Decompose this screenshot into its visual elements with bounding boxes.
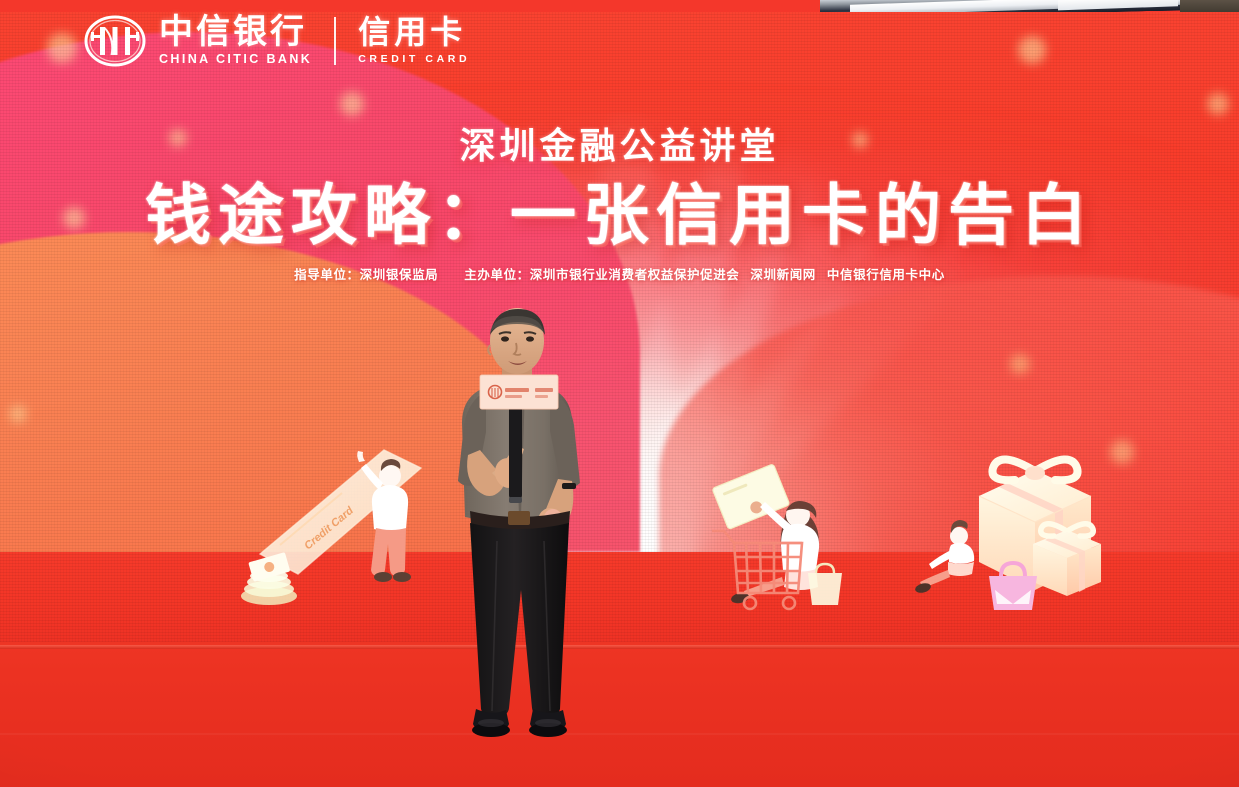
event-stage-scene: 中信银行 CHINA CITIC BANK 信用卡 CREDIT CARD 深圳… [0,0,1239,787]
product-name-en: CREDIT CARD [358,52,470,67]
event-title: 钱途攻略：一张信用卡的告白 [0,176,1239,254]
host-label: 主办单位： [464,268,530,282]
citic-credit-card-logo: 中信银行 CHINA CITIC BANK 信用卡 CREDIT CARD [84,14,470,68]
shopping-cart [712,531,802,609]
gift-boxes-illustration [915,440,1155,615]
trousers [470,523,569,717]
bank-name-block: 中信银行 CHINA CITIC BANK [159,15,312,68]
head [488,308,545,374]
wristwatch [562,483,576,489]
bank-name-cn: 中信银行 [159,15,307,49]
guidance-label: 指导单位： [294,268,360,282]
right-eye [526,336,534,341]
bokeh-dot [1010,354,1030,374]
citic-bank-logo-mark [84,14,146,68]
headline-block: 深圳金融公益讲堂 钱途攻略：一张信用卡的告白 指导单位：深圳银保监局主办单位：深… [0,124,1239,284]
shopping-cart-illustration [690,461,905,611]
credit-card-illustration: Credit Card [236,446,451,611]
seated-person [915,520,974,594]
shoes [472,709,567,737]
bokeh-dot [340,92,364,116]
bokeh-dot [9,405,27,423]
speaker-person [420,305,620,755]
belt-buckle [508,511,530,525]
product-name-cn: 信用卡 [358,16,466,49]
host-org-1: 深圳市银行业消费者权益保护促进会 [530,268,740,282]
mic-flag [480,375,558,409]
bank-name-en: CHINA CITIC BANK [159,51,312,68]
bokeh-dot [1018,36,1046,64]
small-gift-box [1033,524,1101,596]
bokeh-dot [1207,93,1229,115]
guidance-org: 深圳银保监局 [360,268,439,282]
host-org-2: 深圳新闻网 [750,268,816,282]
logo-divider [334,17,336,65]
product-name-block: 信用卡 CREDIT CARD [358,16,470,67]
host-org-3: 中信银行信用卡中心 [827,268,945,282]
event-subtitle: 深圳金融公益讲堂 [0,124,1239,168]
bokeh-dot [47,33,77,63]
left-eye [501,336,509,341]
credits-line: 指导单位：深圳银保监局主办单位：深圳市银行业消费者权益保护促进会深圳新闻网中信银… [0,266,1239,284]
